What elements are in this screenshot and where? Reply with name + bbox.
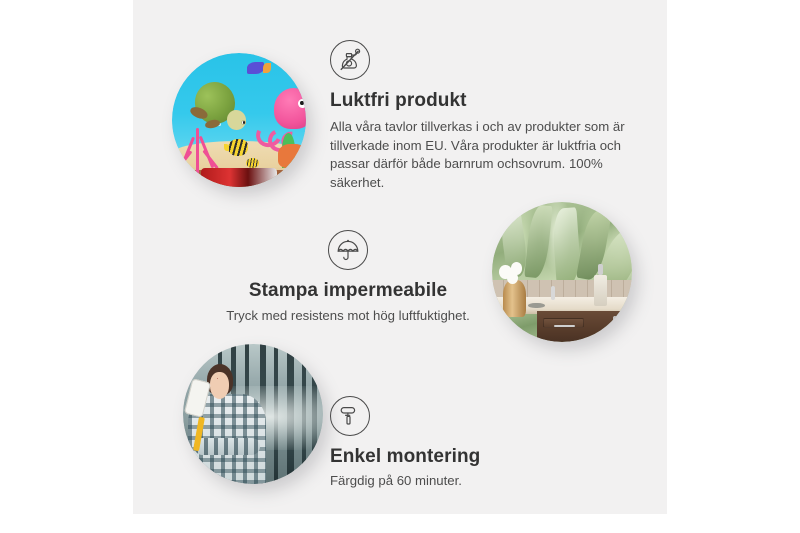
turtle-eye: [241, 120, 246, 125]
smile: [217, 378, 219, 379]
umbrella-icon: [328, 230, 368, 270]
foreground-object: [201, 168, 276, 187]
faucet: [551, 286, 555, 300]
feature-block-odour-free: Luktfri produkt Alla våra tavlor tillver…: [330, 40, 630, 193]
vanity-cabinet: [537, 311, 632, 342]
feature-body: Alla våra tavlor tillverkas i och av pro…: [330, 118, 630, 193]
feature-block-waterproof-print: Stampa impermeabile Tryck med resistens …: [218, 230, 478, 326]
feature-body: Färgdig på 60 minuter.: [330, 472, 610, 491]
starfish-icon: [278, 144, 306, 168]
soap-dispenser: [594, 275, 607, 306]
face: [210, 372, 229, 398]
painter-woman: [186, 364, 273, 484]
feature-block-easy-mounting: Enkel montering Färgdig på 60 minuter.: [330, 396, 610, 491]
promo-infographic-page: Luktfri produkt Alla våra tavlor tillver…: [0, 0, 800, 533]
paint-roller-icon: [330, 396, 370, 436]
turtle-head: [227, 110, 246, 130]
octopus-eye: [298, 99, 306, 108]
underwater-scene-illustration: [172, 53, 306, 187]
feature-title: Luktfri produkt: [330, 90, 630, 112]
coral-icon: [181, 128, 216, 174]
no-spray-bottle-icon: [330, 40, 370, 80]
drawer-handle: [554, 325, 575, 327]
octopus-head: [274, 88, 306, 130]
feature-title: Enkel montering: [330, 446, 610, 468]
turtle-icon: [191, 82, 245, 130]
feature-image-odour-free[interactable]: [172, 53, 306, 187]
crossed-arms: [194, 438, 260, 455]
feature-body: Tryck med resistens mot hög luftfuktighe…: [218, 307, 478, 326]
feature-image-waterproof-print[interactable]: [492, 202, 632, 342]
cabinet-handle: [613, 316, 617, 335]
feature-title: Stampa impermeabile: [218, 280, 478, 302]
yellow-fish-icon: [228, 139, 248, 156]
white-flowers: [495, 261, 531, 289]
bathroom-photo: [492, 202, 632, 342]
feature-image-easy-mounting[interactable]: [183, 344, 323, 484]
painter-forest-photo: [183, 344, 323, 484]
